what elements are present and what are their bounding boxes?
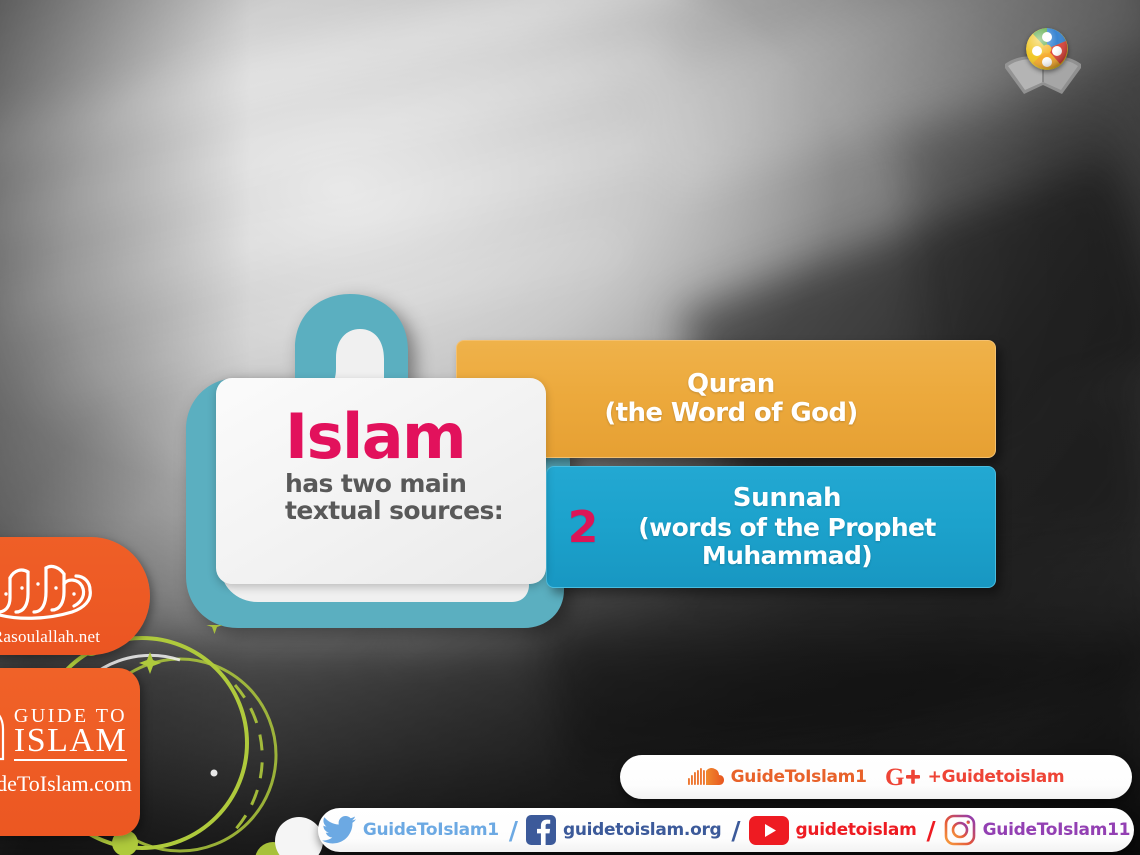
brand-logo [1002, 28, 1084, 96]
instagram-handle: GuideToIslam11 [983, 820, 1131, 840]
guide-domain-label: GuideToIslam.com [0, 771, 132, 797]
guide-logo-line-2: ISLAM [14, 725, 127, 761]
source-title-quran: Quran [529, 370, 933, 399]
soundcloud-handle: GuideToIslam1 [731, 767, 867, 787]
instagram-icon [944, 814, 976, 846]
islam-brand-word: Islam [285, 408, 535, 467]
separator-2: / [731, 816, 740, 845]
facebook-icon [526, 815, 556, 845]
social-link-twitter[interactable]: GuideToIslam1 / [322, 816, 521, 845]
separator-1: / [509, 816, 518, 845]
mihrab-arch-icon [0, 707, 6, 761]
infographic-canvas: Islam has two main textual sources: 1 Qu… [0, 0, 1140, 855]
social-link-soundcloud[interactable]: GuideToIslam1 [688, 766, 867, 788]
arabic-calligraphy-icon [0, 558, 106, 626]
social-bar-bottom: GuideToIslam1 / guidetoislam.org / guide… [318, 808, 1134, 852]
twitter-icon [322, 816, 356, 844]
social-link-instagram[interactable]: GuideToIslam11 [944, 814, 1131, 846]
source-title-sunnah: Sunnah [619, 484, 955, 513]
googleplus-icon: G [885, 764, 921, 790]
svg-text:G: G [885, 764, 904, 790]
youtube-handle: guidetoislam [796, 820, 917, 840]
twitter-handle: GuideToIslam1 [363, 820, 499, 840]
colorful-globe-icon [1026, 28, 1068, 70]
soundcloud-icon [688, 766, 724, 788]
rasoulallah-label: Rasoulallah.net [0, 627, 100, 647]
source-detail-sunnah: (words of the Prophet Muhammad) [619, 514, 955, 570]
separator-3: / [927, 816, 936, 845]
islam-subtitle-line-1: has two main [285, 470, 535, 497]
source-number-2: 2 [547, 502, 619, 553]
source-bar-sunnah[interactable]: 2 Sunnah (words of the Prophet Muhammad) [546, 466, 996, 588]
social-link-youtube[interactable]: guidetoislam / [749, 816, 939, 845]
source-detail-quran: (the Word of God) [529, 399, 933, 428]
social-link-facebook[interactable]: guidetoislam.org / [526, 815, 744, 845]
source-content-1: Quran (the Word of God) [529, 370, 995, 428]
googleplus-handle: +Guidetoislam [928, 767, 1065, 787]
rasoulallah-badge[interactable]: Rasoulallah.net [0, 537, 150, 655]
facebook-handle: guidetoislam.org [563, 820, 721, 840]
youtube-icon [749, 816, 789, 845]
social-link-googleplus[interactable]: G +Guidetoislam [885, 764, 1065, 790]
social-bar-top: GuideToIslam1 G +Guidetoislam [620, 755, 1132, 799]
islam-subtitle-line-2: textual sources: [285, 497, 535, 524]
source-content-2: Sunnah (words of the Prophet Muhammad) [619, 484, 995, 569]
guide-to-islam-badge[interactable]: GUIDE TO ISLAM GuideToIslam.com [0, 668, 140, 836]
islam-heading-group: Islam has two main textual sources: [285, 408, 535, 524]
